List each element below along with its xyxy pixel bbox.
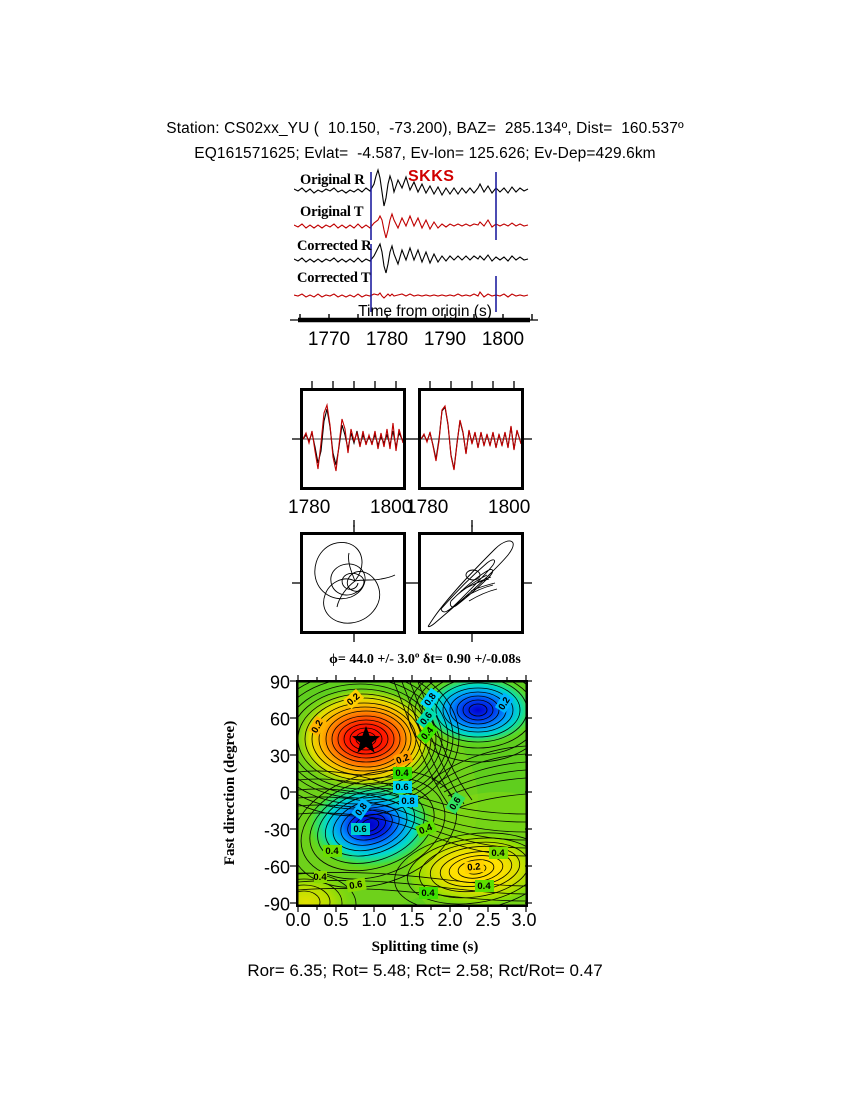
trace-label-corrected-t: Corrected T <box>297 270 370 287</box>
trace-label-original-r: Original R <box>300 172 364 189</box>
time-tick-1780: 1780 <box>366 329 408 351</box>
contour-label-04-e: 0.4 <box>477 881 491 892</box>
contour-y-axis-label: Fast direction (degree) <box>222 673 242 913</box>
contour-x-tick-labels: 0.0 0.5 1.0 1.5 2.0 2.5 3.0 <box>296 910 524 936</box>
contour-surface: 0.2 0.2 0.8 0.6 <box>298 682 526 905</box>
xtick-15: 1.5 <box>399 910 424 931</box>
time-axis <box>284 314 544 328</box>
panel-particle-motion-original <box>300 532 406 634</box>
panel-fast-slow-uncorrected <box>300 388 406 490</box>
ytick-30: 30 <box>270 747 290 768</box>
time-axis-tick-labels: 1770 1780 1790 1800 <box>284 329 544 355</box>
time-tick-1770: 1770 <box>308 329 350 351</box>
contour-y-tick-labels: 90 60 30 0 -30 -60 -90 <box>240 680 290 903</box>
panel-fast-slow-corrected <box>418 388 524 490</box>
mini-panel-mid-side-tick <box>404 430 422 448</box>
pm-corrected-path <box>428 541 513 627</box>
pm-mid-side-tick <box>404 574 422 592</box>
contour-label-06-b: 0.6 <box>395 782 408 793</box>
header-station-line: Station: CS02xx_YU ( 10.150, -73.200), B… <box>0 120 850 138</box>
xtick-05: 0.5 <box>323 910 348 931</box>
mini-panel-right-side-tick <box>522 430 534 448</box>
xtick-00: 0.0 <box>285 910 310 931</box>
contour-label-04-b: 0.4 <box>395 768 409 779</box>
pm-right-side-tick <box>522 574 534 592</box>
xtick-10: 1.0 <box>361 910 386 931</box>
time-tick-1800: 1800 <box>482 329 524 351</box>
mini-right-trace-slow <box>421 406 521 470</box>
contour-label-04-h: 0.4 <box>421 888 435 899</box>
pm-bottom-ticks <box>300 634 530 644</box>
phase-label-skks: SKKS <box>408 168 454 186</box>
contour-right-ticks <box>525 678 536 906</box>
mini-right-tick-1780: 1780 <box>406 497 448 519</box>
pm-left-side-tick <box>292 574 302 592</box>
contour-label-04-d: 0.4 <box>325 846 339 857</box>
contour-title: ϕ= 44.0 +/- 3.0º δt= 0.90 +/-0.08s <box>0 652 850 668</box>
contour-plot: 0.2 0.2 0.8 0.6 <box>296 680 528 907</box>
ytick-neg30: -30 <box>264 821 290 842</box>
time-tick-1790: 1790 <box>424 329 466 351</box>
contour-label-02-e: 0.2 <box>467 861 481 873</box>
contour-label-08-b: 0.8 <box>401 796 414 807</box>
xtick-20: 2.0 <box>437 910 462 931</box>
figure-page: Station: CS02xx_YU ( 10.150, -73.200), B… <box>0 0 850 1100</box>
ytick-60: 60 <box>270 710 290 731</box>
contour-label-06-e: 0.6 <box>348 879 363 892</box>
panel-particle-motion-corrected <box>418 532 524 634</box>
footer-quality-stats: Ror= 6.35; Rot= 5.48; Rct= 2.58; Rct/Rot… <box>0 961 850 981</box>
mini-right-tick-1800: 1800 <box>488 497 530 519</box>
xtick-30: 3.0 <box>511 910 536 931</box>
contour-label-06-c: 0.6 <box>353 824 366 835</box>
header-event-line: EQ161571625; Evlat= -4.587, Ev-lon= 125.… <box>0 145 850 163</box>
contour-top-ticks <box>294 672 528 682</box>
trace-label-original-t: Original T <box>300 204 363 221</box>
contour-label-04-g: 0.4 <box>313 872 327 883</box>
contour-x-axis-label: Splitting time (s) <box>0 939 850 956</box>
trace-label-corrected-r: Corrected R <box>297 238 371 255</box>
xtick-25: 2.5 <box>475 910 500 931</box>
ytick-90: 90 <box>270 673 290 694</box>
ytick-neg60: -60 <box>264 858 290 879</box>
mini-panel-left-side-tick <box>292 430 302 448</box>
contour-label-04-f: 0.4 <box>491 848 505 859</box>
ytick-0: 0 <box>280 784 290 805</box>
mini-left-tick-1780: 1780 <box>288 497 330 519</box>
